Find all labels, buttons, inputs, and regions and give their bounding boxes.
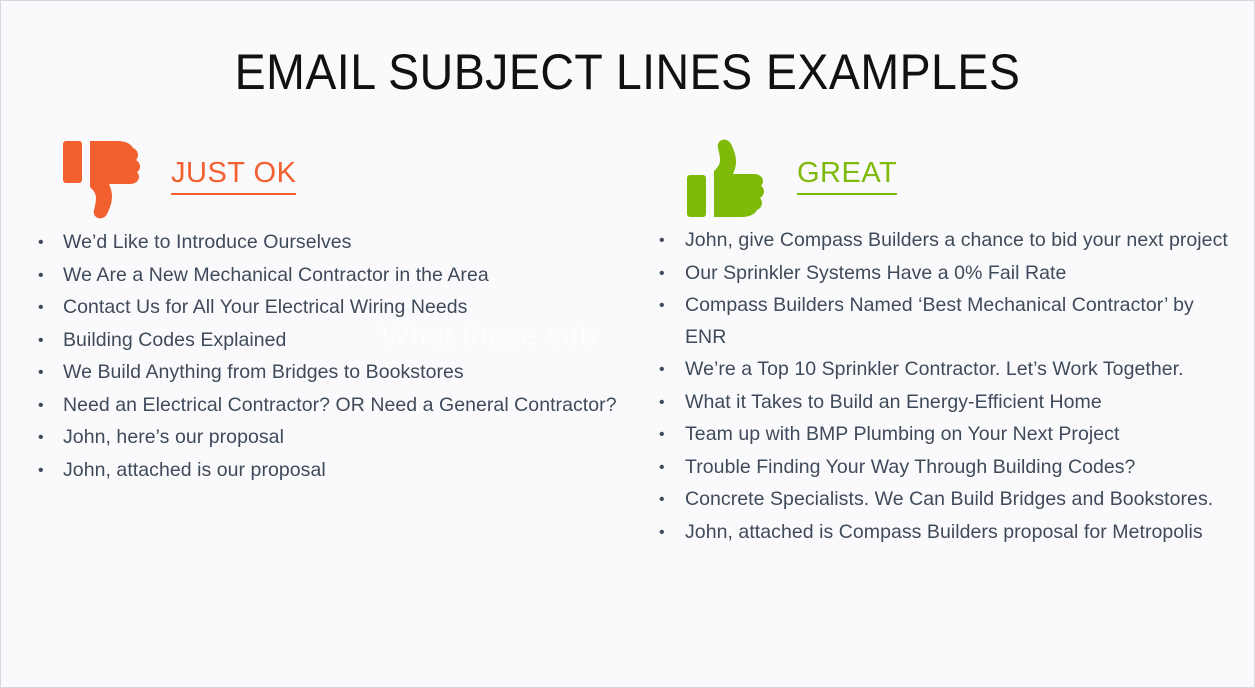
thumbs-up-icon — [687, 139, 773, 217]
thumbs-down-icon — [63, 141, 149, 219]
list-item: Team up with BMP Plumbing on Your Next P… — [649, 419, 1229, 451]
column-great: GREAT John, give Compass Builders a chan… — [649, 133, 1229, 549]
list-item: Concrete Specialists. We Can Build Bridg… — [649, 484, 1229, 516]
list-item: We’d Like to Introduce Ourselves — [31, 227, 631, 259]
subject-line-list-great: John, give Compass Builders a chance to … — [649, 225, 1229, 548]
list-item: Building Codes Explained — [31, 325, 631, 357]
list-item: Trouble Finding Your Way Through Buildin… — [649, 452, 1229, 484]
slide-canvas: What those sub EMAIL SUBJECT LINES EXAMP… — [0, 0, 1255, 688]
list-item: Our Sprinkler Systems Have a 0% Fail Rat… — [649, 258, 1229, 290]
list-item: John, attached is Compass Builders propo… — [649, 517, 1229, 549]
column-label-just-ok: JUST OK — [171, 159, 296, 195]
list-item: We Build Anything from Bridges to Bookst… — [31, 357, 631, 389]
column-label-great: GREAT — [797, 159, 897, 195]
list-item: We’re a Top 10 Sprinkler Contractor. Let… — [649, 354, 1229, 386]
subject-line-list-just-ok: We’d Like to Introduce Ourselves We Are … — [31, 227, 631, 486]
column-header-great: GREAT — [649, 133, 1229, 221]
list-item: Compass Builders Named ‘Best Mechanical … — [649, 290, 1229, 353]
list-item: What it Takes to Build an Energy-Efficie… — [649, 387, 1229, 419]
list-item: Contact Us for All Your Electrical Wirin… — [31, 292, 631, 324]
list-item: John, attached is our proposal — [31, 455, 631, 487]
list-item: John, here’s our proposal — [31, 422, 631, 454]
column-just-ok: JUST OK We’d Like to Introduce Ourselves… — [31, 133, 631, 487]
list-item: John, give Compass Builders a chance to … — [649, 225, 1229, 257]
column-header-just-ok: JUST OK — [31, 133, 631, 221]
list-item: We Are a New Mechanical Contractor in th… — [31, 260, 631, 292]
comparison-columns: JUST OK We’d Like to Introduce Ourselves… — [1, 1, 1254, 687]
list-item: Need an Electrical Contractor? OR Need a… — [31, 390, 631, 422]
